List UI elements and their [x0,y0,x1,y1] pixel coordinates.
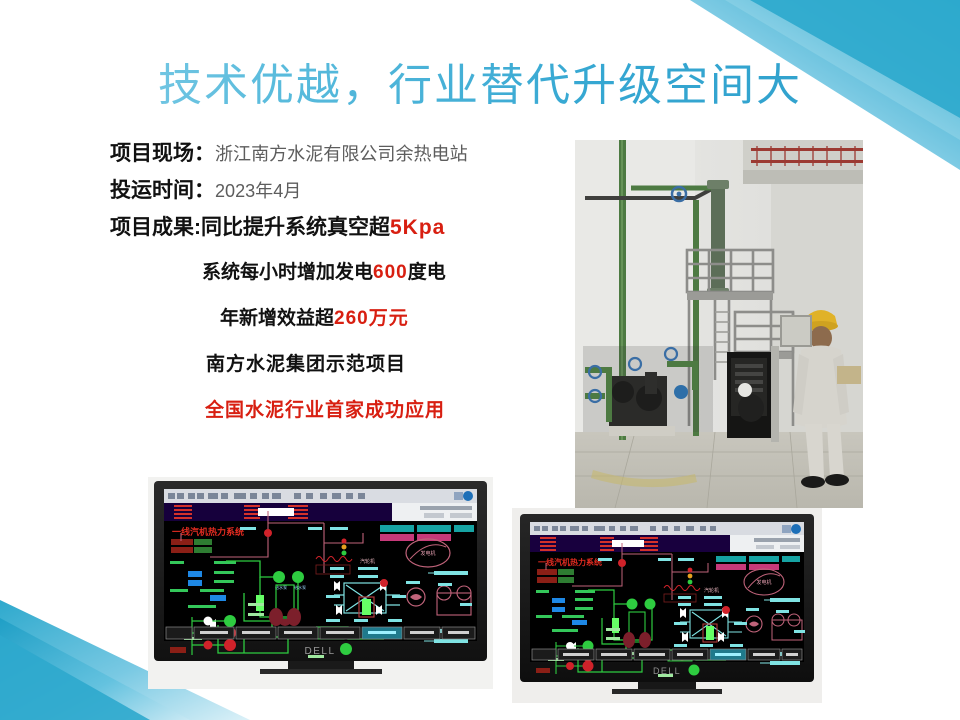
demo-project-text: 南方水泥集团示范项目 [206,354,406,375]
result-line-power-gain: 系统每小时增加发电600度电 [110,263,530,282]
results-highlight: 5Kpa [390,216,445,239]
info-line-results: 项目成果:同比提升系统真空超5Kpa [110,217,530,238]
results-label: 项目成果: [110,216,201,239]
scada-monitor-right-illustration: DELL [512,508,822,703]
result-line-demo-project: 南方水泥集团示范项目 [110,355,530,374]
commission-date-label: 投运时间： [110,179,215,202]
site-value: 浙江南方水泥有限公司余热电站 [215,144,468,164]
photo-industrial-plant [575,140,863,508]
result-line-annual-benefit: 年新增效益超260万元 [110,309,530,328]
body-text-block: 项目现场：浙江南方水泥有限公司余热电站 投运时间：2023年4月 项目成果:同比… [110,143,530,420]
svg-text:一线汽机热力系统: 一线汽机热力系统 [538,557,602,567]
annual-benefit-highlight: 260万元 [334,308,409,329]
photo-scada-monitor-left: DELL [148,477,493,689]
annual-benefit-text: 年新增效益超 [220,308,334,329]
power-gain-highlight: 600 [373,262,408,283]
svg-text:发电机: 发电机 [420,550,435,557]
info-line-site: 项目现场：浙江南方水泥有限公司余热电站 [110,143,530,164]
svg-text:发电机: 发电机 [756,579,771,586]
photo-scada-monitor-right: DELL [512,508,822,703]
first-application-text: 全国水泥行业首家成功应用 [205,400,445,421]
svg-text:一线汽机热力系统: 一线汽机热力系统 [172,526,244,537]
svg-text:给水泵: 给水泵 [294,584,306,590]
result-line-first-application: 全国水泥行业首家成功应用 [110,401,530,420]
power-gain-tail: 度电 [408,262,446,283]
svg-text:汽轮机: 汽轮机 [704,587,719,594]
power-gain-text: 系统每小时增加发电 [202,262,373,283]
svg-text:汽轮机: 汽轮机 [360,558,375,565]
site-label: 项目现场： [110,142,215,165]
scada-monitor-left-illustration: DELL [148,477,493,689]
slide-root: 技术优越，行业替代升级空间大 项目现场：浙江南方水泥有限公司余热电站 投运时间：… [0,0,960,720]
page-title: 技术优越，行业替代升级空间大 [0,62,960,110]
commission-date-value: 2023年4月 [215,181,301,201]
industrial-plant-illustration [575,140,863,508]
results-value: 同比提升系统真空超 [201,216,390,239]
info-line-commission-date: 投运时间：2023年4月 [110,180,530,201]
